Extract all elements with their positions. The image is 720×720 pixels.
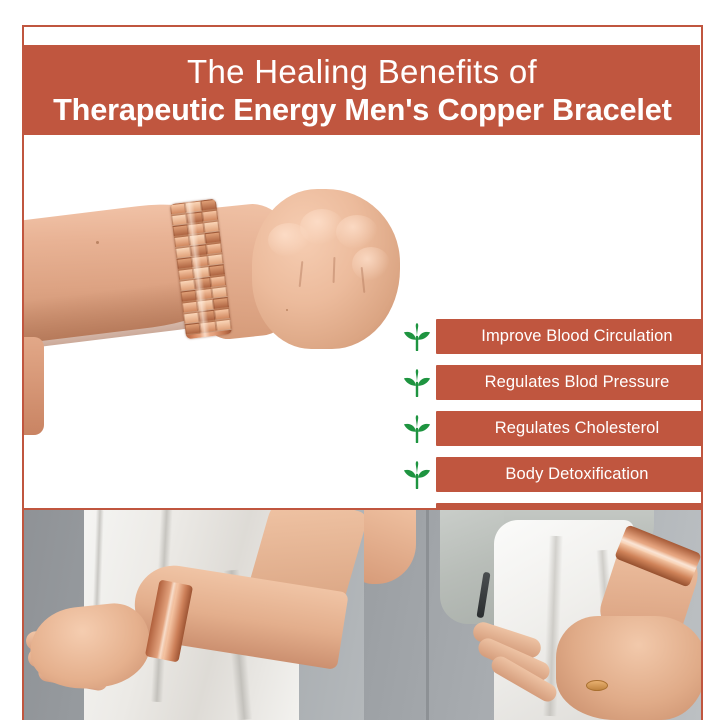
benefit-item-1: Improve Blood Circulation <box>398 319 701 354</box>
edge-arm-fragment <box>364 510 416 584</box>
leaf-sprout-icon <box>398 366 436 400</box>
gold-ring-icon <box>586 680 608 691</box>
benefits-list: Improve Blood Circulation Regulates Blod… <box>398 319 701 508</box>
main-content-section: Improve Blood Circulation Regulates Blod… <box>24 137 701 508</box>
leaf-sprout-icon <box>398 412 436 446</box>
hand-shape <box>556 616 701 720</box>
photo-seam-divider <box>426 510 429 720</box>
benefit-label: Improve Blood Circulation <box>436 319 701 354</box>
infographic-canvas: The Healing Benefits of Therapeutic Ener… <box>0 0 720 720</box>
lifestyle-photo-right <box>364 510 701 720</box>
bracelet-gloss-highlight <box>156 582 178 660</box>
benefit-label: Regulates Blod Pressure <box>436 365 701 400</box>
lifestyle-photo-strip <box>22 508 703 720</box>
frame-border-right <box>701 25 703 508</box>
hero-product-image <box>24 137 400 437</box>
benefit-item-2: Regulates Blod Pressure <box>398 365 701 400</box>
frame-border-top <box>22 25 703 27</box>
benefit-item-4: Body Detoxification <box>398 457 701 492</box>
skin-mark <box>286 309 288 311</box>
lifestyle-photo-left <box>24 510 364 720</box>
benefit-label: Regulates Cholesterol <box>436 411 701 446</box>
benefit-label: Body Detoxification <box>436 457 701 492</box>
knuckle-highlight <box>352 247 390 281</box>
leaf-sprout-icon <box>398 458 436 492</box>
knuckle-highlight <box>336 215 378 249</box>
page-title-line2: Therapeutic Energy Men's Copper Bracelet <box>53 93 671 128</box>
edge-arm-fragment <box>24 337 44 435</box>
page-title-line1: The Healing Benefits of <box>187 54 537 91</box>
skin-mark <box>96 241 99 244</box>
header-banner: The Healing Benefits of Therapeutic Ener… <box>24 45 700 135</box>
benefit-item-3: Regulates Cholesterol <box>398 411 701 446</box>
leaf-sprout-icon <box>398 320 436 354</box>
